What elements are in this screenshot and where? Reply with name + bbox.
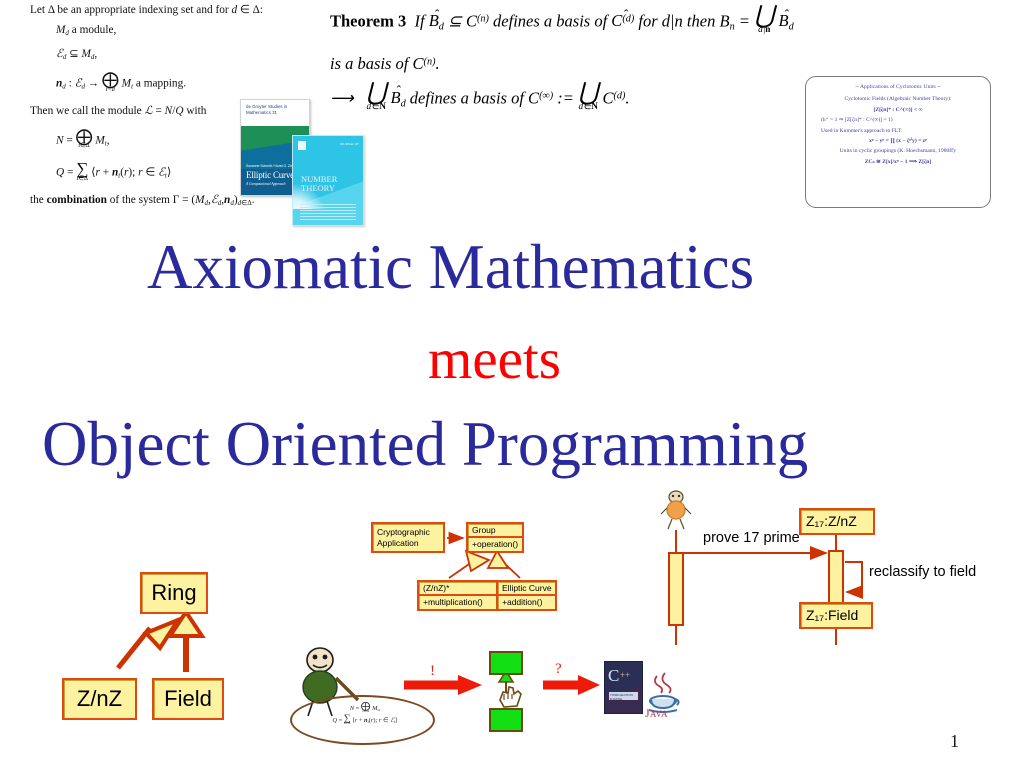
inheritance-arrow-znz-to-ring bbox=[118, 620, 178, 668]
sequence-object-field[interactable]: Z₁₇:Field bbox=[799, 602, 873, 629]
formula-ellipse-text: N = ⨁t∈Δ Mt, Q = ∑t∈Δ ⟨r + nt(r); r ∈ ℰt… bbox=[306, 703, 424, 727]
class-box-znz-units-operation: +multiplication() bbox=[419, 594, 497, 608]
ellipse-formula-line2: Q = ∑t∈Δ ⟨r + nt(r); r ∈ ℰt⟩ bbox=[306, 715, 424, 727]
class-box-crypto-line1: Cryptographic bbox=[377, 527, 430, 537]
class-box-elliptic-curve[interactable]: Elliptic Curve +addition() bbox=[496, 580, 557, 611]
ellipse-formula-line1: N = ⨁t∈Δ Mt, bbox=[306, 703, 424, 715]
cpp-band-line2: BJARNE STROUSTRUP bbox=[610, 697, 631, 705]
page-number: 1 bbox=[950, 731, 959, 752]
cpp-plusplus-label: ++ bbox=[620, 670, 630, 680]
class-box-crypto-label: Cryptographic Application bbox=[373, 524, 443, 552]
generalization-znz-to-group bbox=[449, 551, 489, 578]
self-message-arrow-reclassify bbox=[845, 562, 862, 592]
sequence-self-message-label: reclassify to field bbox=[869, 564, 976, 580]
class-box-znz[interactable]: Z/nZ bbox=[62, 678, 137, 720]
actor-activation-bar bbox=[669, 553, 683, 625]
class-box-field[interactable]: Field bbox=[152, 678, 224, 720]
sequence-message-label: prove 17 prime bbox=[703, 530, 800, 546]
generalization-ec-to-group bbox=[488, 551, 520, 578]
class-box-field-label: Field bbox=[154, 680, 222, 712]
flow-arrow-2 bbox=[543, 675, 600, 695]
actor-stick-figure bbox=[661, 491, 691, 529]
cpp-letter-label: C bbox=[608, 667, 619, 684]
slide-canvas: Let Δ be an appropriate indexing set and… bbox=[0, 0, 1024, 768]
exclamation-mark-label: ! bbox=[430, 663, 435, 680]
green-node-bottom[interactable] bbox=[489, 708, 523, 732]
sequence-object-znz-label: Z₁₇:Z/nZ bbox=[801, 510, 873, 532]
hand-cursor-icon bbox=[500, 687, 521, 707]
flow-arrow-1 bbox=[404, 675, 482, 695]
class-box-group-name: Group bbox=[468, 524, 522, 536]
class-box-ring[interactable]: Ring bbox=[140, 572, 208, 614]
class-box-znz-units-name: (Z/nZ)* bbox=[419, 582, 497, 594]
class-box-ring-label: Ring bbox=[142, 574, 206, 606]
question-mark-label: ? bbox=[555, 661, 562, 678]
class-box-cryptographic-application[interactable]: Cryptographic Application bbox=[371, 522, 445, 553]
book-cover-cpp: C ++ THIRD EDITION BJARNE STROUSTRUP bbox=[604, 661, 643, 714]
class-box-crypto-line2: Application bbox=[377, 538, 419, 548]
sequence-object-znz[interactable]: Z₁₇:Z/nZ bbox=[799, 508, 875, 535]
sequence-object-field-label: Z₁₇:Field bbox=[801, 604, 871, 626]
java-wordmark-label: JAVA bbox=[645, 706, 668, 721]
green-node-top[interactable] bbox=[489, 651, 523, 675]
class-box-group[interactable]: Group +operation() bbox=[466, 522, 524, 553]
cpp-band-text: THIRD EDITION BJARNE STROUSTRUP bbox=[610, 693, 642, 706]
class-box-znz-label: Z/nZ bbox=[64, 680, 135, 712]
class-box-znz-units[interactable]: (Z/nZ)* +multiplication() bbox=[417, 580, 499, 611]
class-box-elliptic-curve-name: Elliptic Curve bbox=[498, 582, 555, 594]
class-box-elliptic-curve-operation: +addition() bbox=[498, 594, 555, 608]
class-box-group-operation: +operation() bbox=[468, 536, 522, 550]
